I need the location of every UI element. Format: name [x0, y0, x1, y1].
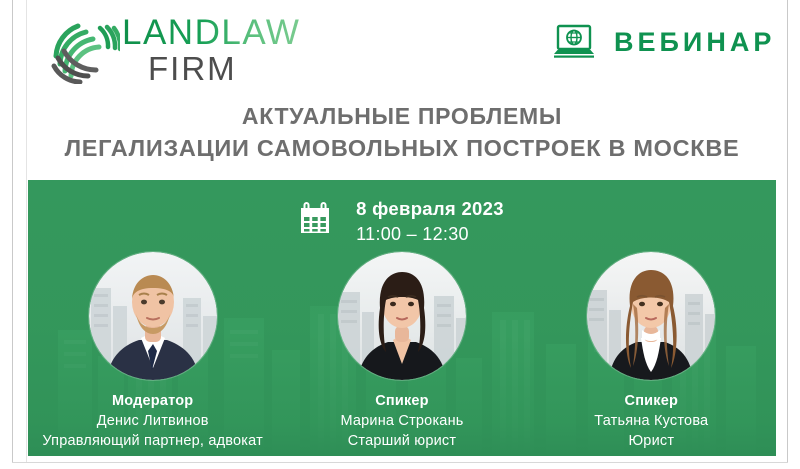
avatar-photo-speaker-1 [338, 252, 466, 380]
event-time: 11:00 – 12:30 [356, 224, 469, 244]
event-panel: 8 февраля 2023 11:00 – 12:30 [28, 180, 776, 456]
brand-wordmark: LANDLAW FIRM [122, 14, 332, 86]
speaker-role: Спикер [375, 392, 429, 411]
speaker-name: Марина Строкань [340, 411, 463, 431]
page-title: АКТУАЛЬНЫЕ ПРОБЛЕМЫ ЛЕГАЛИЗАЦИИ САМОВОЛЬ… [28, 100, 776, 164]
brand-logo[interactable]: LANDLAW FIRM [44, 14, 324, 86]
brand-name-primary: LANDLAW [122, 14, 332, 52]
speaker-position: Юрист [628, 431, 674, 451]
event-datetime: 8 февраля 2023 11:00 – 12:30 [28, 196, 776, 247]
speaker-role: Модератор [112, 392, 193, 411]
speaker-position: Управляющий партнер, адвокат [42, 431, 263, 451]
speaker-role: Спикер [625, 392, 679, 411]
brand-name-secondary: FIRM [122, 52, 332, 86]
speaker-name: Татьяна Кустова [594, 411, 708, 431]
speaker-card-1: Спикер Марина Строкань Старший юрист [277, 252, 526, 451]
calendar-icon [300, 202, 330, 234]
laptop-globe-icon [552, 24, 596, 60]
event-date: 8 февраля 2023 [356, 198, 504, 219]
page-header: LANDLAW FIRM ВЕБИНАР [0, 0, 800, 96]
webinar-badge: ВЕБИНАР [552, 24, 775, 60]
avatar-photo-moderator [89, 252, 217, 380]
speakers-list: Модератор Денис Литвинов Управляющий пар… [28, 252, 776, 451]
page-title-line-2: ЛЕГАЛИЗАЦИИ САМОВОЛЬНЫХ ПОСТРОЕК В МОСКВ… [28, 132, 776, 164]
page-title-line-1: АКТУАЛЬНЫЕ ПРОБЛЕМЫ [28, 100, 776, 132]
webinar-announcement-page: LANDLAW FIRM ВЕБИНАР АКТУАЛЬН [0, 0, 800, 469]
speaker-position: Старший юрист [348, 431, 456, 451]
speaker-card-moderator: Модератор Денис Литвинов Управляющий пар… [28, 252, 277, 451]
speaker-name: Денис Литвинов [97, 411, 209, 431]
speaker-card-2: Спикер Татьяна Кустова Юрист [527, 252, 776, 451]
avatar-photo-speaker-2 [587, 252, 715, 380]
signal-arcs-icon [44, 16, 120, 84]
page-edge-rule-bottom [12, 462, 788, 463]
webinar-label: ВЕБИНАР [614, 27, 775, 58]
